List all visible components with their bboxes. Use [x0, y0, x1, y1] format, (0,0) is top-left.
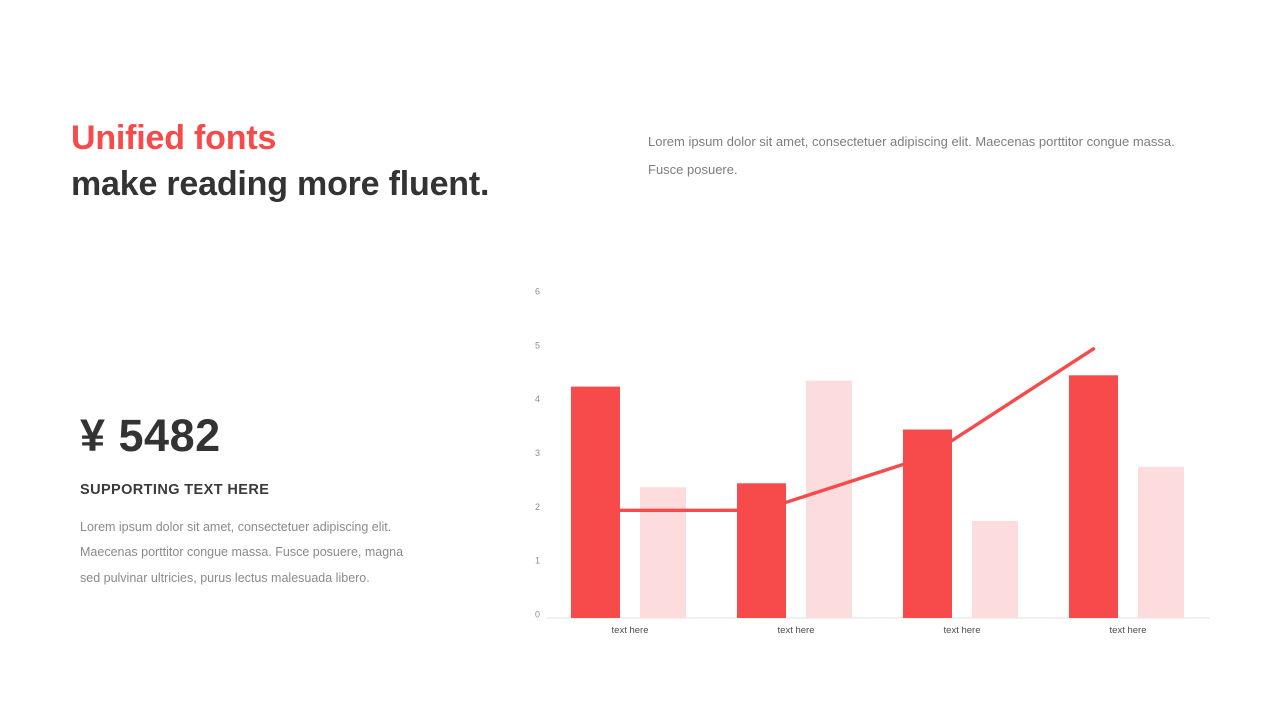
y-tick-label: 1	[535, 556, 540, 566]
x-tick-label: text here	[944, 625, 981, 636]
headline-accent-line: Unified fonts	[71, 115, 631, 161]
y-tick-label: 3	[535, 448, 540, 458]
bar-primary-4	[1069, 375, 1118, 618]
y-tick-label: 6	[535, 287, 540, 297]
stat-body-text: Lorem ipsum dolor sit amet, consectetuer…	[80, 515, 415, 591]
stat-block: ¥ 5482 SUPPORTING TEXT HERE Lorem ipsum …	[80, 408, 440, 591]
y-axis-tick-labels: 6 5 4 3 2 1 0	[535, 287, 540, 620]
chart-canvas: 6 5 4 3 2 1 0 text here text here text h…	[520, 275, 1220, 645]
headline-main-line: make reading more fluent.	[71, 161, 631, 207]
headline-block: Unified fonts make reading more fluent.	[71, 115, 631, 207]
stat-value: ¥ 5482	[80, 408, 440, 464]
bar-primary-1	[571, 387, 620, 618]
x-axis-tick-labels: text here text here text here text here	[612, 625, 1147, 636]
y-tick-label: 4	[535, 394, 540, 404]
stat-subtitle: SUPPORTING TEXT HERE	[80, 482, 440, 498]
bar-secondary-4	[1138, 467, 1184, 618]
bar-secondary-3	[972, 521, 1018, 618]
intro-paragraph: Lorem ipsum dolor sit amet, consectetuer…	[648, 128, 1176, 184]
combo-chart: 6 5 4 3 2 1 0 text here text here text h…	[520, 275, 1220, 645]
x-tick-label: text here	[1110, 625, 1147, 636]
bar-secondary-1	[640, 487, 686, 618]
bar-secondary-2	[806, 381, 852, 618]
y-tick-label: 5	[535, 340, 540, 350]
y-tick-label: 2	[535, 502, 540, 512]
y-tick-label: 0	[535, 610, 540, 620]
x-tick-label: text here	[612, 625, 649, 636]
x-tick-label: text here	[778, 625, 815, 636]
